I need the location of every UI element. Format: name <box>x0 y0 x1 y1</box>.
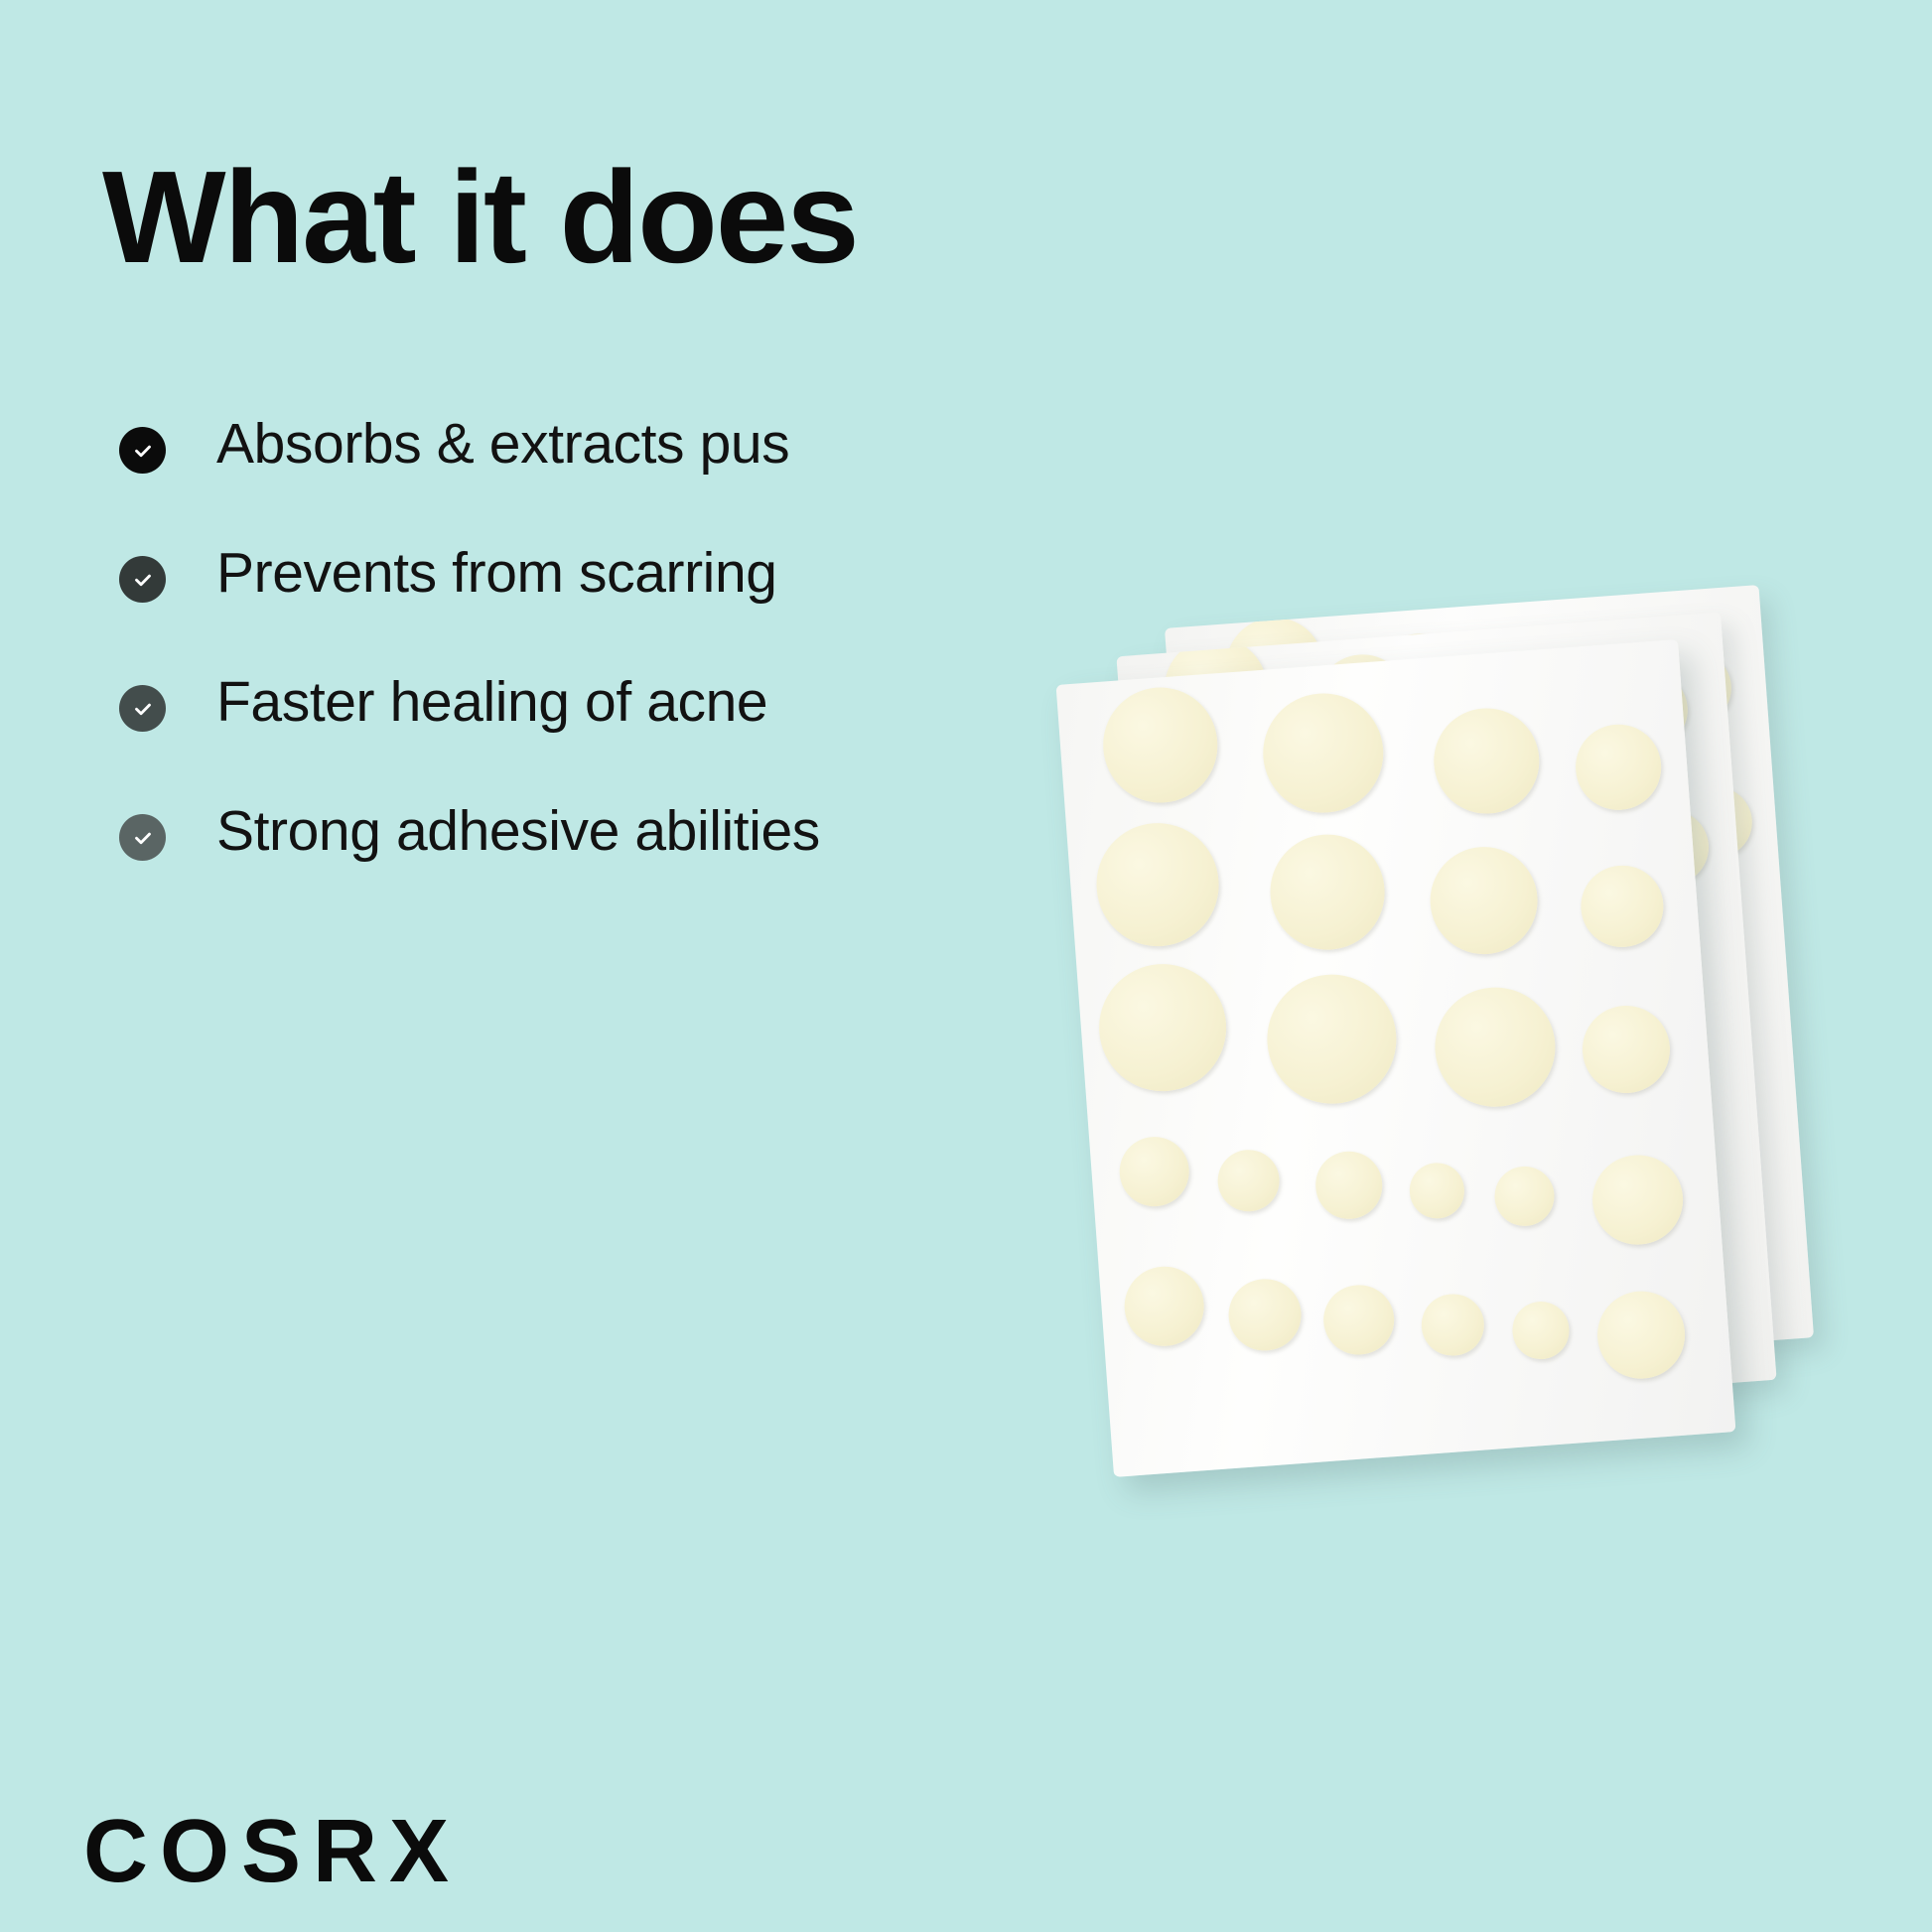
hydrocolloid-patch <box>1093 819 1224 950</box>
hydrocolloid-patch <box>1427 843 1542 958</box>
product-image-patch-sheets <box>695 556 1932 1886</box>
hydrocolloid-patch <box>1266 831 1389 954</box>
hydrocolloid-patch <box>1408 1162 1466 1220</box>
hydrocolloid-patch <box>1259 689 1387 817</box>
brand-logo: COSRX <box>83 1807 461 1896</box>
benefit-label: Faster healing of acne <box>216 673 767 733</box>
check-circle-icon <box>119 814 166 861</box>
hydrocolloid-patch <box>1580 1003 1673 1096</box>
hydrocolloid-patch <box>1493 1165 1558 1229</box>
page-title: What it does <box>102 145 858 289</box>
hydrocolloid-patch <box>1226 1276 1304 1353</box>
hydrocolloid-patch <box>1573 722 1663 812</box>
benefit-item-1: Absorbs & extracts pus <box>119 415 1112 544</box>
hydrocolloid-patch <box>1431 705 1543 817</box>
check-circle-icon <box>119 685 166 732</box>
hydrocolloid-patch <box>1579 863 1667 951</box>
check-circle-icon <box>119 427 166 474</box>
hydrocolloid-patch <box>1263 970 1402 1109</box>
hydrocolloid-patch <box>1121 1264 1206 1349</box>
hydrocolloid-patch <box>1094 960 1230 1096</box>
sheet-front <box>1056 639 1736 1477</box>
hydrocolloid-patch <box>1321 1283 1396 1357</box>
benefit-label: Absorbs & extracts pus <box>216 415 789 475</box>
promo-canvas: What it does Absorbs & extracts pusPreve… <box>0 0 1932 1932</box>
hydrocolloid-patch <box>1510 1300 1572 1361</box>
hydrocolloid-patch <box>1431 983 1559 1111</box>
hydrocolloid-patch <box>1312 1149 1385 1221</box>
hydrocolloid-patch <box>1594 1289 1688 1382</box>
hydrocolloid-patch <box>1420 1292 1486 1358</box>
check-circle-icon <box>119 556 166 603</box>
hydrocolloid-patch <box>1215 1148 1282 1214</box>
hydrocolloid-patch <box>1117 1134 1191 1208</box>
benefit-label: Prevents from scarring <box>216 544 777 604</box>
hydrocolloid-patch <box>1099 684 1222 807</box>
hydrocolloid-patch <box>1589 1152 1686 1248</box>
